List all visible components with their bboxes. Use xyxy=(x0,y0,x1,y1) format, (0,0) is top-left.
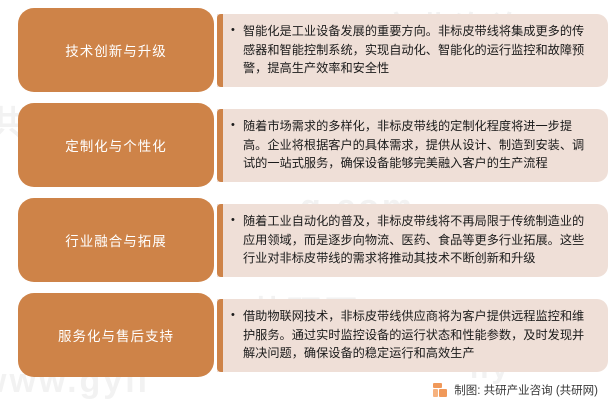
trend-detail-text: 智能化是工业设备发展的重要方向。非标皮带线将集成更多的传感器和智能控制系统，实现… xyxy=(217,22,608,79)
trend-detail-panel-4: 借助物联网技术，非标皮带线供应商将为客户提供远程监控和维护服务。通过实时监控设备… xyxy=(217,299,608,372)
trend-row: 服务化与售后支持 借助物联网技术，非标皮带线供应商将为客户提供远程监控和维护服务… xyxy=(0,293,608,377)
trend-label-text: 技术创新与升级 xyxy=(65,40,167,60)
trend-row: 定制化与个性化 随着市场需求的多样化，非标皮带线的定制化程度将进一步提高。企业将… xyxy=(0,103,608,187)
trend-list-board: 技术创新与升级 智能化是工业设备发展的重要方向。非标皮带线将集成更多的传感器和智… xyxy=(0,0,608,403)
trend-row: 技术创新与升级 智能化是工业设备发展的重要方向。非标皮带线将集成更多的传感器和智… xyxy=(0,8,608,92)
trend-label-box-2: 定制化与个性化 xyxy=(18,103,214,187)
trend-label-box-1: 技术创新与升级 xyxy=(18,8,214,92)
gongyan-logo-icon xyxy=(433,383,447,397)
trend-label-box-3: 行业融合与拓展 xyxy=(18,198,214,282)
trend-detail-panel-2: 随着市场需求的多样化，非标皮带线的定制化程度将进一步提高。企业将根据客户的具体需… xyxy=(217,109,608,182)
trend-detail-text: 随着工业自动化的普及，非标皮带线将不再局限于传统制造业的应用领域，而是逐步向物流… xyxy=(217,212,608,269)
trend-detail-panel-3: 随着工业自动化的普及，非标皮带线将不再局限于传统制造业的应用领域，而是逐步向物流… xyxy=(217,204,608,277)
trend-detail-panel-1: 智能化是工业设备发展的重要方向。非标皮带线将集成更多的传感器和智能控制系统，实现… xyxy=(217,14,608,87)
trend-detail-text: 随着市场需求的多样化，非标皮带线的定制化程度将进一步提高。企业将根据客户的具体需… xyxy=(217,117,608,174)
trend-row: 行业融合与拓展 随着工业自动化的普及，非标皮带线将不再局限于传统制造业的应用领域… xyxy=(0,198,608,282)
trend-label-text: 服务化与售后支持 xyxy=(58,325,174,345)
footer-credit-text: 制图: 共研产业咨询 (共研网) xyxy=(454,382,598,398)
footer-credit: 制图: 共研产业咨询 (共研网) xyxy=(433,382,598,398)
trend-label-text: 行业融合与拓展 xyxy=(65,230,167,250)
trend-label-text: 定制化与个性化 xyxy=(65,135,167,155)
trend-detail-text: 借助物联网技术，非标皮带线供应商将为客户提供远程监控和维护服务。通过实时监控设备… xyxy=(217,307,608,364)
trend-label-box-4: 服务化与售后支持 xyxy=(18,293,214,377)
